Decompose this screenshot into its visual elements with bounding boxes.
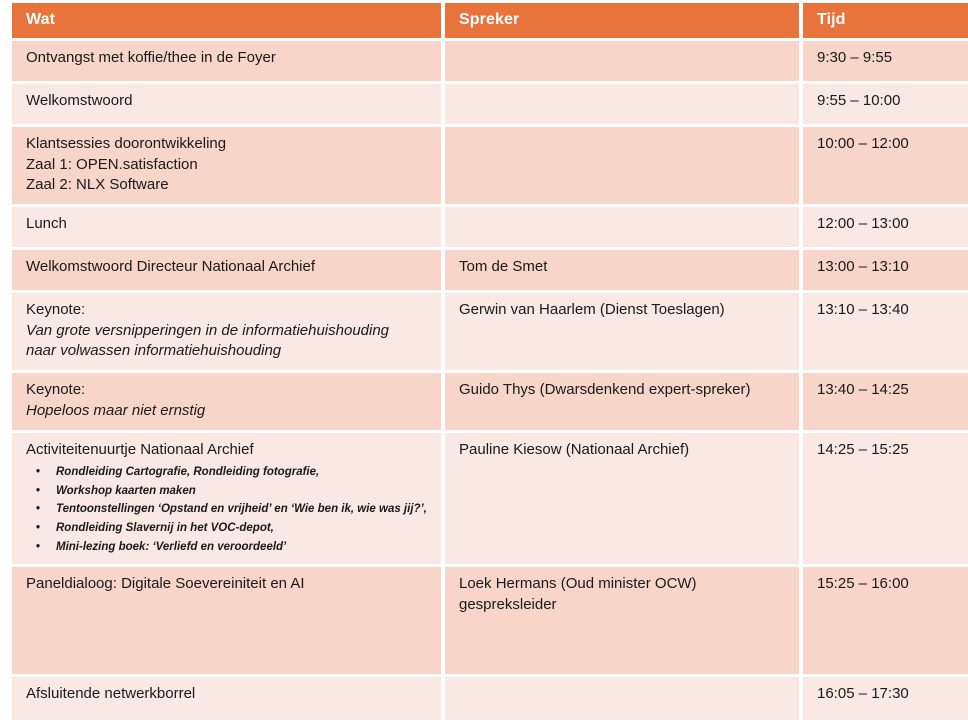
cell-spreker: Guido Thys (Dwarsdenkend expert-spreker) [445,373,799,429]
cell-wat: Klantsessies doorontwikkeling Zaal 1: OP… [12,127,441,204]
activity-line: Activiteitenuurtje Nationaal Archief [26,440,427,461]
speaker-line: Loek Hermans (Oud minister OCW) [459,574,785,595]
activity-line: Welkomstwoord Directeur Nationaal Archie… [26,257,427,278]
cell-wat: Lunch [12,207,441,247]
bullet-icon: • [36,463,40,482]
list-item-label: Mini-lezing boek: ‘Verliefd en veroordee… [56,541,286,553]
table-row: Ontvangst met koffie/thee in de Foyer 9:… [12,41,968,81]
cell-tijd: 9:55 – 10:00 [803,84,968,124]
activity-line: Keynote: [26,380,427,401]
table-row: Welkomstwoord 9:55 – 10:00 [12,84,968,124]
table-row: Keynote: Van grote versnipperingen in de… [12,293,968,370]
activity-line: Keynote: [26,300,427,321]
cell-wat: Keynote: Hopeloos maar niet ernstig [12,373,441,429]
activity-line: Zaal 1: OPEN.satisfaction [26,155,427,176]
cell-wat: Activiteitenuurtje Nationaal Archief • R… [12,433,441,565]
cell-spreker [445,41,799,81]
table-row: Keynote: Hopeloos maar niet ernstig Guid… [12,373,968,429]
activity-line: Afsluitende netwerkborrel [26,684,427,705]
list-item-label: Workshop kaarten maken [56,485,196,497]
cell-tijd: 14:25 – 15:25 [803,433,968,565]
speaker-role: gespreksleider [459,595,785,616]
cell-spreker: Gerwin van Haarlem (Dienst Toeslagen) [445,293,799,370]
activity-line: Zaal 2: NLX Software [26,175,427,196]
list-item-label: Rondleiding Cartografie, Rondleiding fot… [56,466,319,478]
cell-tijd: 10:00 – 12:00 [803,127,968,204]
cell-tijd: 13:00 – 13:10 [803,250,968,290]
table-row: Lunch 12:00 – 13:00 [12,207,968,247]
cell-spreker [445,207,799,247]
activity-line: Lunch [26,214,427,235]
cell-wat: Welkomstwoord Directeur Nationaal Archie… [12,250,441,290]
list-item: • Workshop kaarten maken [26,482,427,501]
list-item-label: Tentoonstellingen ‘Opstand en vrijheid’ … [56,503,427,515]
cell-tijd: 16:05 – 17:30 [803,677,968,720]
header-row: Wat Spreker Tijd [12,3,968,38]
cell-spreker: Tom de Smet [445,250,799,290]
bullet-icon: • [36,482,40,501]
list-item: • Rondleiding Cartografie, Rondleiding f… [26,463,427,482]
list-item: • Mini-lezing boek: ‘Verliefd en veroord… [26,538,427,557]
bullet-icon: • [36,519,40,538]
activity-line: Ontvangst met koffie/thee in de Foyer [26,48,427,69]
table-body: Ontvangst met koffie/thee in de Foyer 9:… [12,41,968,720]
bullet-icon: • [36,500,40,519]
cell-wat: Afsluitende netwerkborrel [12,677,441,720]
cell-tijd: 9:30 – 9:55 [803,41,968,81]
cell-tijd: 13:10 – 13:40 [803,293,968,370]
activity-bullet-list: • Rondleiding Cartografie, Rondleiding f… [26,463,427,556]
cell-wat: Welkomstwoord [12,84,441,124]
bullet-icon: • [36,538,40,557]
column-header-spreker: Spreker [445,3,799,38]
table-header: Wat Spreker Tijd [12,3,968,38]
list-item: • Rondleiding Slavernij in het VOC-depot… [26,519,427,538]
column-header-tijd: Tijd [803,3,968,38]
table-row: Klantsessies doorontwikkeling Zaal 1: OP… [12,127,968,204]
cell-spreker [445,84,799,124]
table-row: Welkomstwoord Directeur Nationaal Archie… [12,250,968,290]
column-header-wat: Wat [12,3,441,38]
list-item: • Tentoonstellingen ‘Opstand en vrijheid… [26,500,427,519]
activity-subtitle: naar volwassen informatiehuishouding [26,341,427,362]
activity-subtitle: Van grote versnipperingen in de informat… [26,321,427,342]
activity-line: Klantsessies doorontwikkeling [26,134,427,155]
cell-wat: Ontvangst met koffie/thee in de Foyer [12,41,441,81]
cell-spreker [445,127,799,204]
activity-subtitle: Hopeloos maar niet ernstig [26,401,427,422]
cell-spreker [445,677,799,720]
activity-line: Welkomstwoord [26,91,427,112]
table-row: Afsluitende netwerkborrel 16:05 – 17:30 [12,677,968,720]
cell-spreker: Pauline Kiesow (Nationaal Archief) [445,433,799,565]
activity-line: Paneldialoog: Digitale Soevereiniteit en… [26,574,427,595]
cell-wat: Paneldialoog: Digitale Soevereiniteit en… [12,567,441,674]
cell-tijd: 13:40 – 14:25 [803,373,968,429]
cell-tijd: 15:25 – 16:00 [803,567,968,674]
cell-spreker: Loek Hermans (Oud minister OCW) gespreks… [445,567,799,674]
list-item-label: Rondleiding Slavernij in het VOC-depot, [56,522,274,534]
table-row: Activiteitenuurtje Nationaal Archief • R… [12,433,968,565]
cell-wat: Keynote: Van grote versnipperingen in de… [12,293,441,370]
cell-tijd: 12:00 – 13:00 [803,207,968,247]
table-row: Paneldialoog: Digitale Soevereiniteit en… [12,567,968,674]
